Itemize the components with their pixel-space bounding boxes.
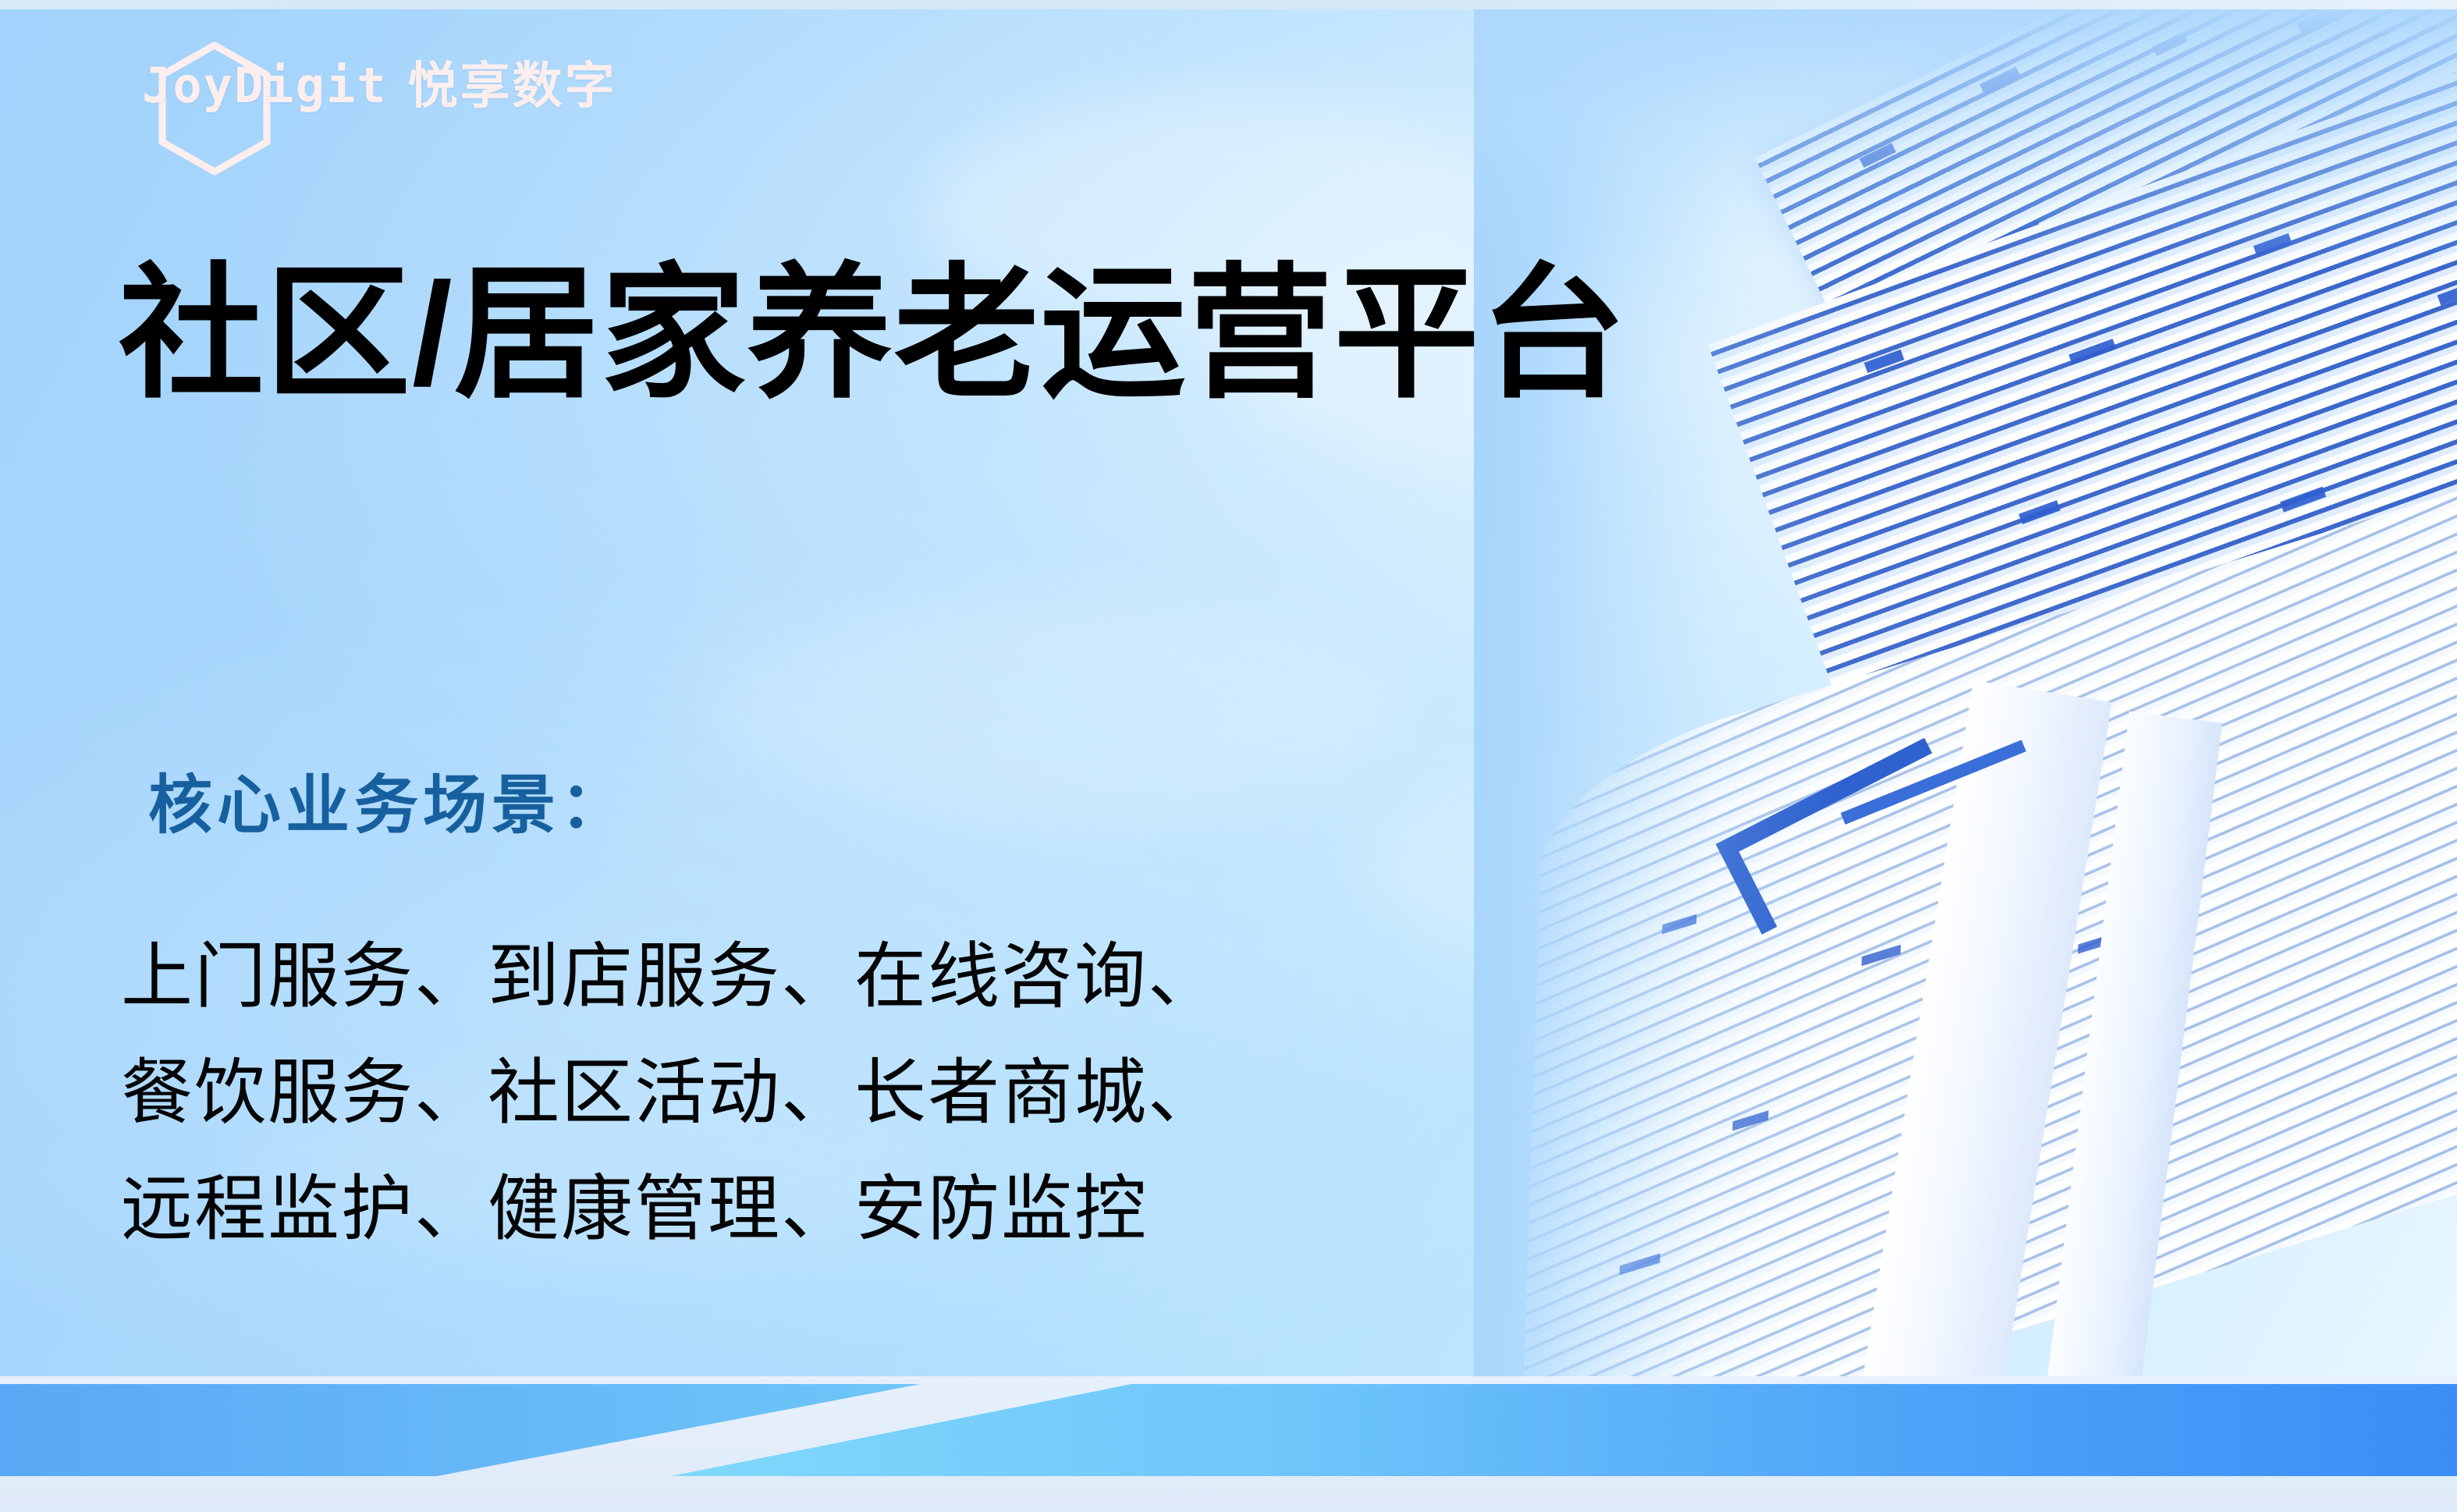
slide-canvas: JoyDigit 悦享数字 社区/居家养老运营平台 核心业务场景： 上门服务、到…	[0, 0, 2457, 1512]
page-title: 社区/居家养老运营平台	[119, 257, 1628, 411]
top-edge-strip	[0, 0, 2457, 9]
logo-chinese-name: 悦享数字	[408, 61, 617, 111]
office-tower-photo	[1474, 9, 2457, 1386]
scenario-list: 上门服务、到店服务、在线咨询、 餐饮服务、社区活动、长者商城、 远程监护、健康管…	[121, 919, 1221, 1268]
logo-wordmark: JoyDigit	[142, 62, 388, 110]
scenario-line: 餐饮服务、社区活动、长者商城、	[121, 1035, 1221, 1152]
section-heading: 核心业务场景：	[148, 771, 629, 841]
scenario-line: 远程监护、健康管理、安防监控	[121, 1152, 1221, 1268]
brand-logo[interactable]: JoyDigit 悦享数字	[142, 61, 617, 111]
scenario-line: 上门服务、到店服务、在线咨询、	[121, 919, 1221, 1035]
bottom-banner	[0, 1376, 2457, 1512]
cloud-blob	[702, 593, 1404, 827]
